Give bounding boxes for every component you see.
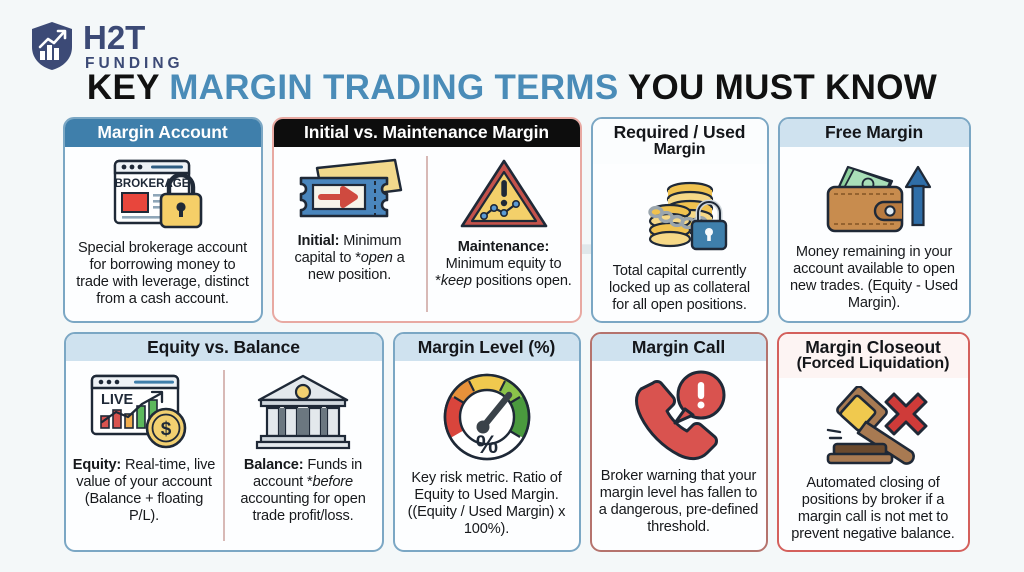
panel-description: Balance: Funds in account *before accoun… [231,457,376,525]
panel-label: Equity: [73,457,121,473]
card-free-margin[interactable]: Free Margin Money remaining in your [778,117,971,323]
card-description: Special brokerage account for borrowing … [72,240,254,308]
panel-balance: Balance: Funds in account *before accoun… [225,361,382,550]
card-heading-line-1: Margin Closeout [805,337,941,357]
gavel-red-x-icon [812,386,934,470]
card-heading: Margin Closeout (Forced Liquidation) [779,334,968,379]
cards-row-bottom: Equity vs. Balance LIVE [0,323,1024,553]
title-part-1: KEY [87,68,169,107]
card-equity-vs-balance[interactable]: Equity vs. Balance LIVE [64,332,384,553]
card-margin-level-percent[interactable]: Margin Level (%) [393,332,581,553]
warning-triangle-chart-icon [458,156,550,234]
card-description: Automated closing of positions by broker… [786,475,961,543]
page-title: KEY MARGIN TRADING TERMS YOU MUST KNOW [0,68,1024,108]
card-body: Money remaining in your account availabl… [780,147,969,321]
bank-building-icon [255,370,351,452]
svg-text:LIVE: LIVE [101,392,134,408]
cards-row-top: Margin Account BROKERAGE [0,108,1024,323]
gauge-percent-icon: % [437,369,537,465]
panel-label: Balance: [244,457,304,473]
card-body: Initial: Minimum capital to *open a new … [274,147,580,321]
brand-logo: H2T FUNDING [0,18,1024,74]
panel-maintenance: Maintenance: Minimum equity to *keep pos… [428,147,580,321]
panel-text-after: accounting for open trade profit/loss. [240,491,365,524]
svg-text:BROKERAGE: BROKERAGE [114,178,189,190]
card-body: Automated closing of positions by broker… [779,378,968,550]
card-body: % Key risk metric. Ratio of Equity to Us… [395,361,579,550]
card-initial-vs-maintenance-margin[interactable]: Initial vs. Maintenance Margin Initial: … [272,117,582,323]
card-description: Key risk metric. Ratio of Equity to Used… [402,470,572,538]
panel-initial: Initial: Minimum capital to *open a new … [274,147,426,321]
panel-description: Maintenance: Minimum equity to *keep pos… [434,239,574,290]
card-heading-line-1: Required / Used [614,122,746,142]
card-margin-closeout[interactable]: Margin Closeout (Forced Liquidation) [777,332,970,553]
shield-chart-icon [30,21,74,71]
phone-alert-icon [623,369,735,463]
title-highlight: MARGIN TRADING TERMS [169,68,618,107]
live-chart-coin-icon: LIVE $ [88,370,200,452]
card-heading: Required / Used Margin [593,119,767,164]
panel-emphasis: before [313,474,353,490]
card-required-used-margin[interactable]: Required / Used Margin [591,117,769,323]
coins-chain-padlock-icon [624,172,736,258]
svg-text:%: % [475,431,497,459]
card-heading: Margin Level (%) [395,334,579,362]
title-part-2: YOU MUST KNOW [619,68,938,107]
card-description: Broker warning that your margin level ha… [599,468,759,536]
card-heading: Margin Call [592,334,766,362]
card-heading: Margin Account [65,119,261,147]
card-description: Total capital currently locked up as col… [600,263,760,314]
panel-emphasis: open [361,250,393,266]
card-body: BROKERAGE Special brokerage account for … [65,147,261,321]
card-heading-line-2: (Forced Liquidation) [783,356,964,373]
brand-name: H2T [83,21,184,54]
ticket-arrow-icon [295,156,405,228]
card-body: LIVE $ Equity: Real-time, live value of … [66,361,382,550]
panel-description: Equity: Real-time, live value of your ac… [72,457,217,525]
card-description: Money remaining in your account availabl… [787,244,962,312]
card-margin-call[interactable]: Margin Call Broker warning that your mar… [590,332,768,553]
panel-equity: LIVE $ Equity: Real-time, live value of … [66,361,223,550]
card-body: Broker warning that your margin level ha… [592,361,766,550]
card-heading: Initial vs. Maintenance Margin [274,119,580,147]
svg-text:$: $ [161,419,172,440]
card-margin-account[interactable]: Margin Account BROKERAGE [63,117,263,323]
card-heading-line-2: Margin [597,142,763,159]
panel-text-after: positions open. [472,273,572,289]
panel-description: Initial: Minimum capital to *open a new … [280,233,420,284]
card-heading: Free Margin [780,119,969,147]
brokerage-window-padlock-icon: BROKERAGE [111,155,215,235]
page-header: H2T FUNDING KEY MARGIN TRADING TERMS YOU… [0,0,1024,108]
panel-label: Maintenance: [458,239,549,255]
wallet-cash-arrow-icon [814,155,934,239]
panel-emphasis: keep [441,273,472,289]
card-body: Total capital currently locked up as col… [593,164,767,321]
card-heading: Equity vs. Balance [66,334,382,362]
panel-label: Initial: [298,233,340,249]
